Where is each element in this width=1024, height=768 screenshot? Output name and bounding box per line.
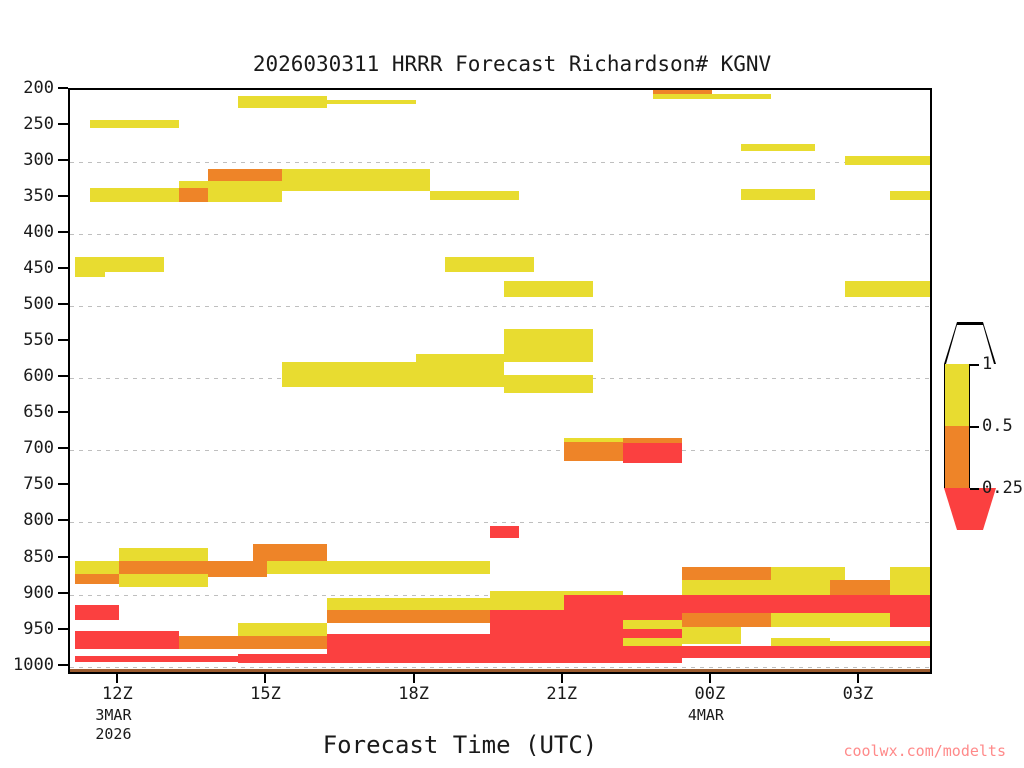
heatmap-cell (890, 595, 932, 627)
x-tick-label: 03Z (843, 684, 874, 704)
y-tick-mark (58, 628, 68, 630)
terrain-bar (70, 669, 930, 674)
heatmap-cell (623, 438, 682, 443)
x-tick-label: 15Z (250, 684, 281, 704)
y-tick-label: 700 (23, 438, 54, 458)
heatmap-cell (75, 574, 119, 583)
y-tick-mark (58, 87, 68, 89)
heatmap-cell (208, 169, 282, 181)
grid-line (70, 162, 930, 163)
heatmap-cell (75, 605, 119, 619)
x-tick-label: 12Z (102, 684, 133, 704)
heatmap-cell (741, 189, 815, 199)
heatmap-cell (119, 548, 208, 561)
grid-line (70, 667, 930, 668)
colorbar-segment (944, 426, 970, 488)
heatmap-cell (504, 375, 593, 392)
heatmap-cell (771, 567, 845, 580)
heatmap-cell (75, 257, 164, 271)
heatmap-cell (490, 526, 520, 538)
y-tick-mark (58, 411, 68, 413)
y-tick-mark (58, 231, 68, 233)
heatmap-cell (504, 281, 593, 297)
y-tick-mark (58, 664, 68, 666)
x-tick-mark (857, 674, 859, 683)
heatmap-cell (90, 188, 179, 202)
y-tick-label: 250 (23, 114, 54, 134)
y-tick-mark (58, 267, 68, 269)
y-tick-label: 500 (23, 294, 54, 314)
y-tick-mark (58, 519, 68, 521)
colorbar-tick (970, 488, 979, 490)
colorbar-tick (970, 426, 979, 428)
heatmap-cell (90, 120, 179, 128)
heatmap-cell (504, 329, 593, 362)
heatmap-cell (623, 442, 682, 463)
heatmap-cell (238, 623, 327, 636)
heatmap-cell (119, 574, 208, 587)
y-tick-mark (58, 447, 68, 449)
heatmap-cell (623, 620, 682, 629)
y-tick-mark (58, 375, 68, 377)
heatmap-cell (179, 636, 327, 648)
heatmap-cell (771, 613, 889, 627)
x-tick-mark (116, 674, 118, 683)
y-tick-mark (58, 123, 68, 125)
heatmap-cell (327, 634, 490, 656)
heatmap-cell (623, 638, 682, 647)
plot-area (68, 88, 932, 674)
x-tick-mark (561, 674, 563, 683)
grid-line (70, 522, 930, 523)
heatmap-cell (327, 561, 490, 575)
colorbar-segment (944, 364, 970, 426)
y-tick-label: 200 (23, 78, 54, 98)
heatmap-cell (282, 169, 430, 191)
heatmap-cell (238, 654, 682, 663)
y-tick-mark (58, 339, 68, 341)
grid-line (70, 234, 930, 235)
x-tick-label: 21Z (546, 684, 577, 704)
y-tick-mark (58, 195, 68, 197)
heatmap-cell (564, 442, 623, 461)
y-tick-mark (58, 159, 68, 161)
heatmap-cell (75, 656, 238, 662)
heatmap-cell (771, 638, 830, 647)
x-tick-label: 00Z (694, 684, 725, 704)
colorbar-tick-label: 0.5 (982, 416, 1013, 436)
y-tick-label: 400 (23, 222, 54, 242)
heatmap-cell (890, 567, 932, 594)
heatmap-cell (75, 631, 179, 649)
heatmap-cell (430, 191, 519, 200)
y-tick-label: 450 (23, 258, 54, 278)
colorbar-tick-label: 0.25 (982, 478, 1023, 498)
heatmap-cell (845, 156, 932, 165)
x-tick-sublabel: 4MAR (688, 706, 724, 725)
x-tick-mark (709, 674, 711, 683)
watermark: coolwx.com/modelts (843, 742, 1006, 760)
y-tick-label: 1000 (13, 655, 54, 675)
heatmap-cell (208, 181, 282, 203)
y-tick-label: 650 (23, 402, 54, 422)
heatmap-cell (490, 616, 564, 656)
y-tick-label: 300 (23, 150, 54, 170)
chart-title: 2026030311 HRRR Forecast Richardson# KGN… (0, 52, 1024, 76)
y-tick-label: 900 (23, 583, 54, 603)
y-tick-label: 750 (23, 474, 54, 494)
heatmap-cell (327, 100, 416, 104)
heatmap-cell (75, 561, 119, 575)
heatmap-cell (253, 544, 327, 561)
x-tick-mark (264, 674, 266, 683)
grid-line (70, 450, 930, 451)
heatmap-cell (682, 567, 771, 580)
heatmap-cell (682, 646, 932, 658)
heatmap-cell (179, 188, 209, 202)
chart-root: 2026030311 HRRR Forecast Richardson# KGN… (0, 0, 1024, 768)
heatmap-cell (741, 144, 815, 151)
heatmap-cell (445, 257, 534, 271)
y-tick-label: 350 (23, 186, 54, 206)
heatmap-cell (416, 354, 505, 387)
y-axis: 2002503003504004505005506006507007508008… (0, 0, 54, 768)
heatmap-cell (845, 281, 932, 297)
y-tick-label: 800 (23, 510, 54, 530)
y-tick-mark (58, 592, 68, 594)
heatmap-cell (327, 610, 490, 623)
colorbar-tick-label: 1 (982, 354, 992, 374)
y-tick-mark (58, 483, 68, 485)
heatmap-cell (890, 191, 932, 200)
x-axis-title: Forecast Time (UTC) (0, 731, 920, 759)
heatmap-cell (682, 580, 830, 594)
y-tick-mark (58, 303, 68, 305)
y-tick-label: 550 (23, 330, 54, 350)
heatmap-cell (653, 94, 771, 99)
heatmap-cell (238, 96, 327, 108)
heatmap-cell (327, 598, 490, 610)
heatmap-cell (75, 272, 105, 278)
x-tick-label: 18Z (398, 684, 429, 704)
y-tick-label: 600 (23, 366, 54, 386)
y-tick-mark (58, 556, 68, 558)
heatmap-cell (564, 595, 623, 656)
y-tick-label: 850 (23, 547, 54, 567)
heatmap-cell (682, 613, 771, 627)
colorbar-tick (970, 364, 979, 366)
y-tick-label: 950 (23, 619, 54, 639)
heatmap-cell (682, 627, 741, 644)
x-tick-mark (413, 674, 415, 683)
grid-line (70, 306, 930, 307)
